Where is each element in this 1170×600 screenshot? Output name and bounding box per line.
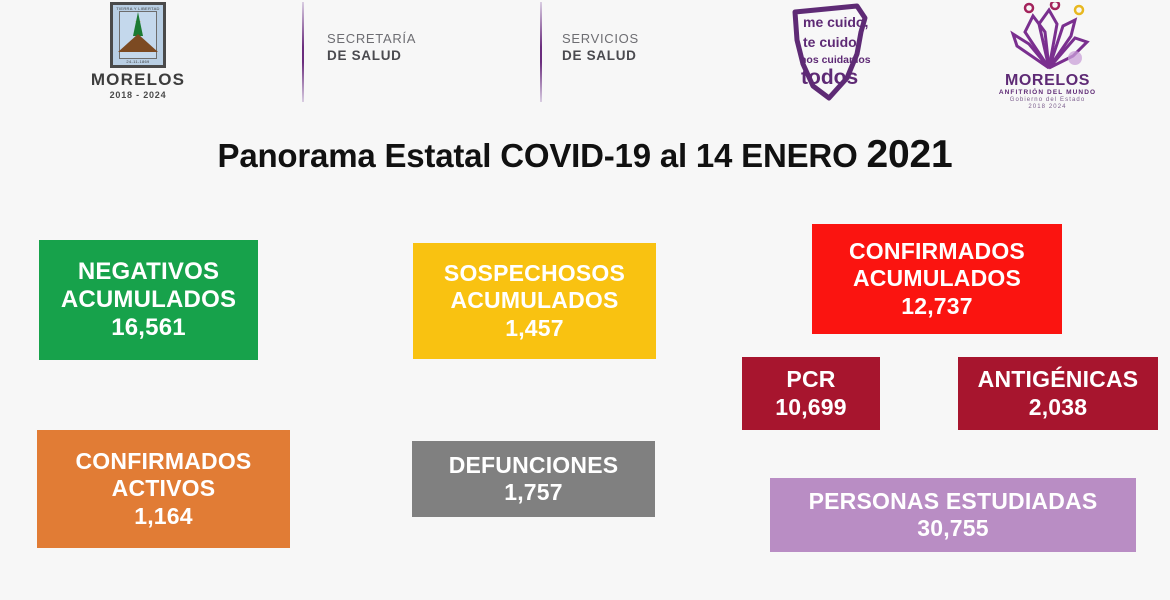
page-title-year: 2021 (867, 133, 953, 176)
stat-label-confirmados-activos-line1: CONFIRMADOS (76, 448, 252, 475)
stat-card-defunciones: DEFUNCIONES 1,757 (412, 441, 655, 517)
crest-motto-bottom: 24-11-1869 (126, 59, 149, 64)
stat-value-sospechosos: 1,457 (505, 315, 564, 342)
stat-value-personas-estudiadas: 30,755 (917, 515, 989, 542)
morelos-fan-flower-icon (1003, 2, 1095, 74)
morelos-coat-of-arms-icon: ✦ TIERRA Y LIBERTAD 24-11-1869 (110, 2, 166, 68)
stat-card-negativos-acumulados: NEGATIVOS ACUMULADOS 16,561 (39, 240, 258, 360)
anfitrion-name: MORELOS (985, 72, 1110, 90)
servicios-de-salud-logo: SERVICIOS DE SALUD (562, 30, 639, 65)
stat-label-antigenicas: ANTIGÉNICAS (978, 366, 1139, 393)
stat-card-antigenicas: ANTIGÉNICAS 2,038 (958, 357, 1158, 430)
stat-label-confirmados-acum-line2: ACUMULADOS (853, 265, 1021, 292)
stat-label-confirmados-acum-line1: CONFIRMADOS (849, 238, 1025, 265)
stat-value-defunciones: 1,757 (504, 479, 563, 506)
secretaria-line2: DE SALUD (327, 47, 416, 65)
page-title-main: Panorama Estatal COVID-19 al 14 ENERO (218, 137, 867, 174)
morelos-anfitrion-logo: MORELOS ANFITRIÓN DEL MUNDO Gobierno del… (985, 0, 1110, 110)
anfitrion-years: 2018 2024 (985, 104, 1110, 110)
stat-value-antigenicas: 2,038 (1029, 394, 1088, 421)
me-cuido-campaign-logo: me cuido, te cuido, nos cuidamos todos (765, 2, 885, 108)
morelos-logo-name: MORELOS (86, 70, 190, 90)
stat-value-pcr: 10,699 (775, 394, 847, 421)
stat-value-negativos: 16,561 (111, 314, 186, 342)
me-cuido-line1: me cuido, (803, 14, 868, 30)
crest-motto-top: TIERRA Y LIBERTAD (116, 6, 160, 11)
stat-label-sospechosos-line1: SOSPECHOSOS (444, 260, 625, 287)
stat-label-personas-estudiadas: PERSONAS ESTUDIADAS (809, 488, 1098, 515)
stat-label-negativos-line1: NEGATIVOS (78, 258, 219, 286)
secretaria-line1: SECRETARÍA (327, 30, 416, 47)
servicios-line2: DE SALUD (562, 47, 639, 65)
stat-label-negativos-line2: ACUMULADOS (61, 286, 236, 314)
morelos-coat-of-arms-logo: ✦ TIERRA Y LIBERTAD 24-11-1869 MORELOS 2… (86, 2, 190, 106)
servicios-line1: SERVICIOS (562, 30, 639, 47)
stat-label-defunciones: DEFUNCIONES (449, 452, 619, 479)
stat-card-personas-estudiadas: PERSONAS ESTUDIADAS 30,755 (770, 478, 1136, 552)
stat-label-pcr: PCR (786, 366, 835, 393)
crest-mountain-icon (118, 34, 158, 52)
header-logo-bar: ✦ TIERRA Y LIBERTAD 24-11-1869 MORELOS 2… (0, 0, 1170, 112)
stat-card-confirmados-activos: CONFIRMADOS ACTIVOS 1,164 (37, 430, 290, 548)
header-divider-left (302, 2, 304, 102)
me-cuido-line2: te cuido, (803, 34, 861, 50)
stat-label-confirmados-activos-line2: ACTIVOS (112, 475, 216, 502)
crest-tree-icon (133, 12, 143, 36)
morelos-logo-years: 2018 - 2024 (86, 90, 190, 100)
header-divider-right (540, 2, 542, 102)
stat-value-confirmados-activos: 1,164 (134, 503, 193, 530)
page-title: Panorama Estatal COVID-19 al 14 ENERO 20… (0, 133, 1170, 177)
stat-value-confirmados-acum: 12,737 (901, 293, 973, 320)
stat-card-confirmados-acumulados: CONFIRMADOS ACUMULADOS 12,737 (812, 224, 1062, 334)
stat-label-sospechosos-line2: ACUMULADOS (450, 287, 618, 314)
stat-card-pcr: PCR 10,699 (742, 357, 880, 430)
secretaria-de-salud-logo: SECRETARÍA DE SALUD (327, 30, 416, 65)
anfitrion-subtitle: ANFITRIÓN DEL MUNDO (985, 89, 1110, 96)
crest-inner-field: ✦ (119, 11, 157, 59)
stat-card-sospechosos-acumulados: SOSPECHOSOS ACUMULADOS 1,457 (413, 243, 656, 359)
me-cuido-line3: nos cuidamos (800, 54, 871, 66)
me-cuido-line4: todos (801, 66, 858, 90)
anfitrion-government: Gobierno del Estado (985, 97, 1110, 103)
